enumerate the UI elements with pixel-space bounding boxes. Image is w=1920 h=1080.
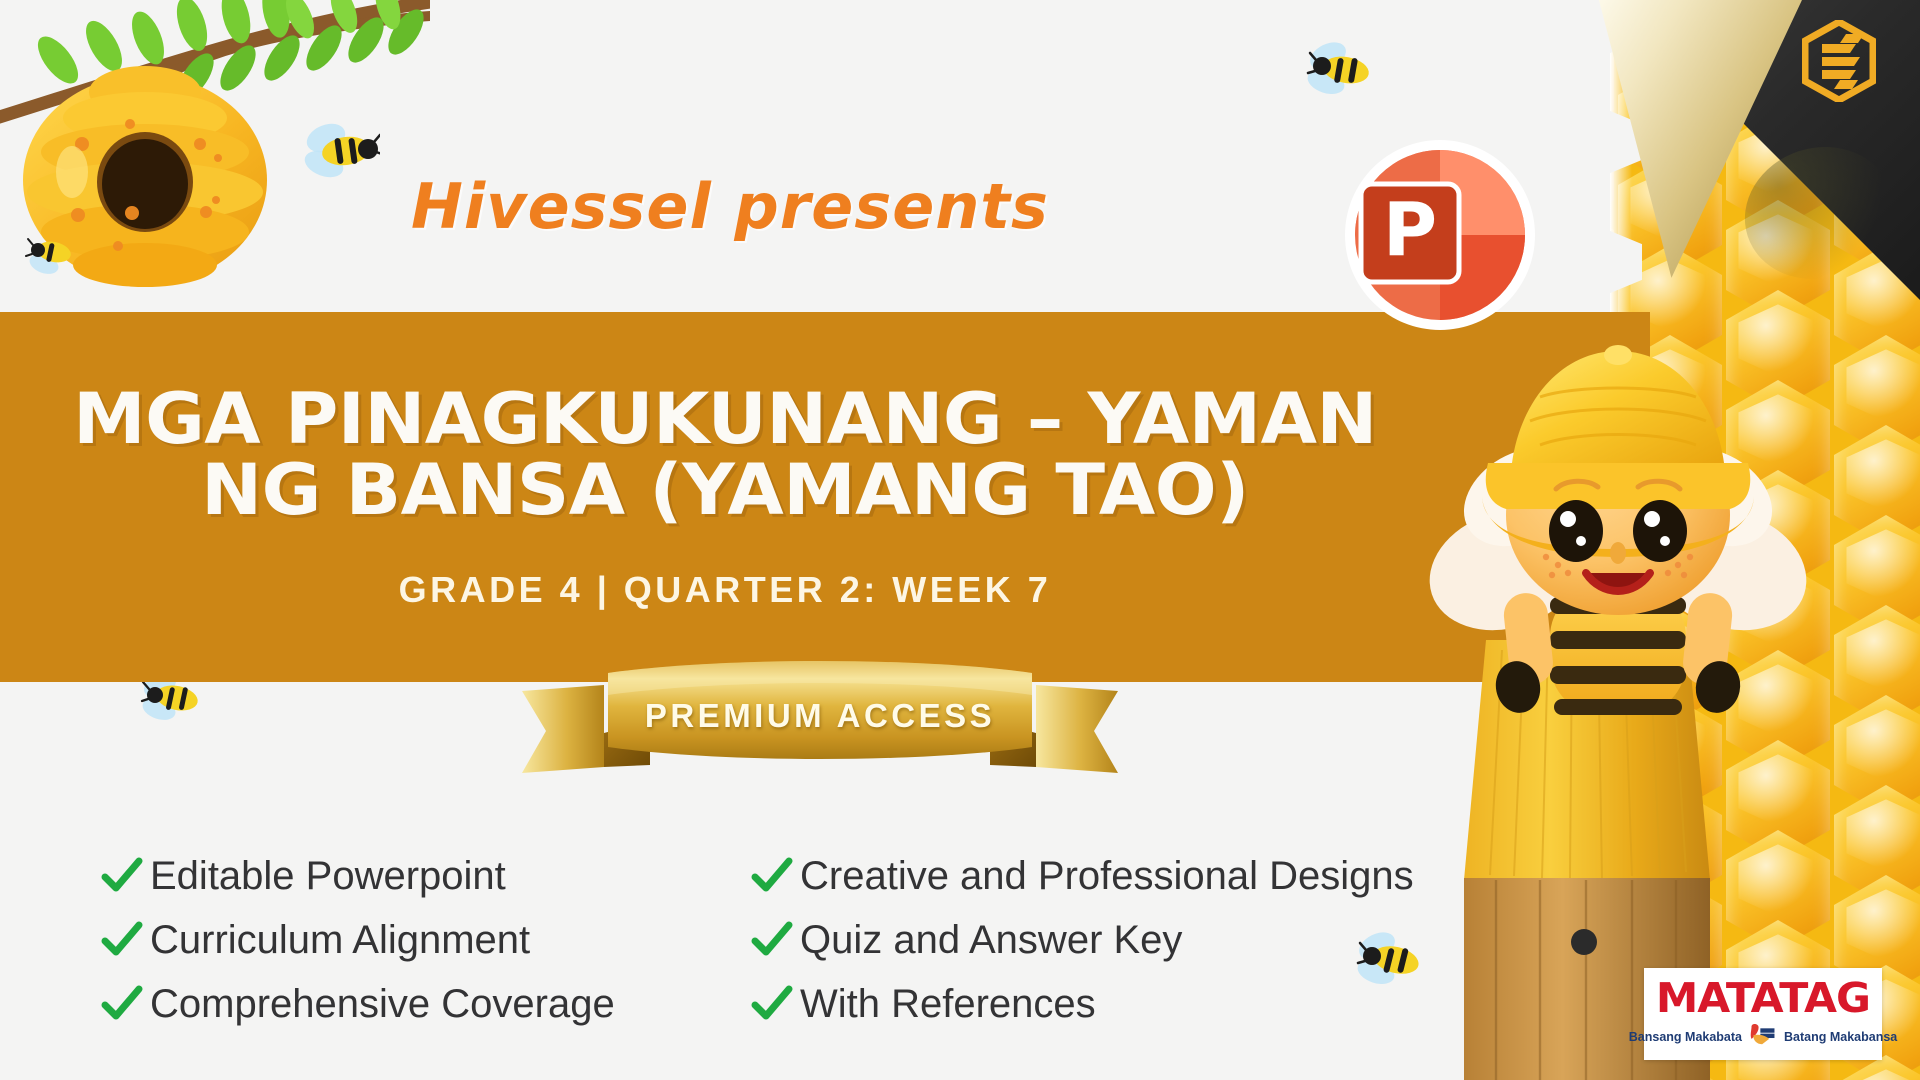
title-band: MGA PINAGKUKUNANG – YAMAN NG BANSA (YAMA… — [0, 312, 1650, 682]
check-icon — [100, 982, 144, 1026]
powerpoint-icon: P — [1345, 140, 1535, 330]
feature-item: Creative and Professional Designs — [750, 845, 1510, 907]
feature-list: Editable Powerpoint Curriculum Alignment… — [100, 845, 1520, 1037]
feature-item: With References — [750, 973, 1510, 1035]
feature-label: With References — [800, 982, 1096, 1027]
feature-item: Comprehensive Coverage — [100, 973, 740, 1035]
title-line-2: NG BANSA (YAMANG TAO) — [13, 455, 1438, 526]
bee-mascot-icon — [1418, 335, 1818, 755]
matatag-right-tagline: Batang Makabansa — [1784, 1030, 1897, 1044]
matatag-wordmark: MATATAG — [1656, 978, 1870, 1019]
bee-icon — [1300, 40, 1378, 100]
check-icon — [750, 982, 794, 1026]
hivessel-hex-logo — [1802, 20, 1876, 102]
title-line-1: MGA PINAGKUKUNANG – YAMAN — [73, 378, 1377, 460]
feature-item: Curriculum Alignment — [100, 909, 740, 971]
feature-label: Quiz and Answer Key — [800, 918, 1182, 963]
check-icon — [750, 918, 794, 962]
page-title: MGA PINAGKUKUNANG – YAMAN NG BANSA (YAMA… — [13, 312, 1438, 527]
feature-column-left: Editable Powerpoint Curriculum Alignment… — [100, 845, 740, 1037]
powerpoint-letter: P — [1383, 187, 1437, 273]
feature-label: Editable Powerpoint — [150, 854, 506, 899]
ribbon-label: PREMIUM ACCESS — [520, 655, 1120, 790]
matatag-hands-heart-icon — [1748, 1023, 1778, 1051]
brand-presents-text: Hivessel presents — [411, 170, 1049, 243]
check-icon — [100, 918, 144, 962]
matatag-logo: MATATAG Bansang Makabata Batang Makabans… — [1644, 968, 1882, 1060]
grade-quarter-week-subtitle: GRADE 4 | QUARTER 2: WEEK 7 — [40, 569, 1410, 611]
brand-presents-heading: Hivessel presents — [0, 170, 1460, 243]
feature-label: Curriculum Alignment — [150, 918, 530, 963]
check-icon — [750, 854, 794, 898]
matatag-left-tagline: Bansang Makabata — [1629, 1030, 1742, 1044]
premium-access-ribbon: PREMIUM ACCESS — [520, 655, 1120, 790]
poster-canvas: MGA PINAGKUKUNANG – YAMAN NG BANSA (YAMA… — [0, 0, 1920, 1080]
feature-label: Creative and Professional Designs — [800, 854, 1414, 899]
feature-column-right: Creative and Professional Designs Quiz a… — [750, 845, 1510, 1037]
feature-item: Editable Powerpoint — [100, 845, 740, 907]
check-icon — [100, 854, 144, 898]
feature-item: Quiz and Answer Key — [750, 909, 1510, 971]
feature-label: Comprehensive Coverage — [150, 982, 615, 1027]
